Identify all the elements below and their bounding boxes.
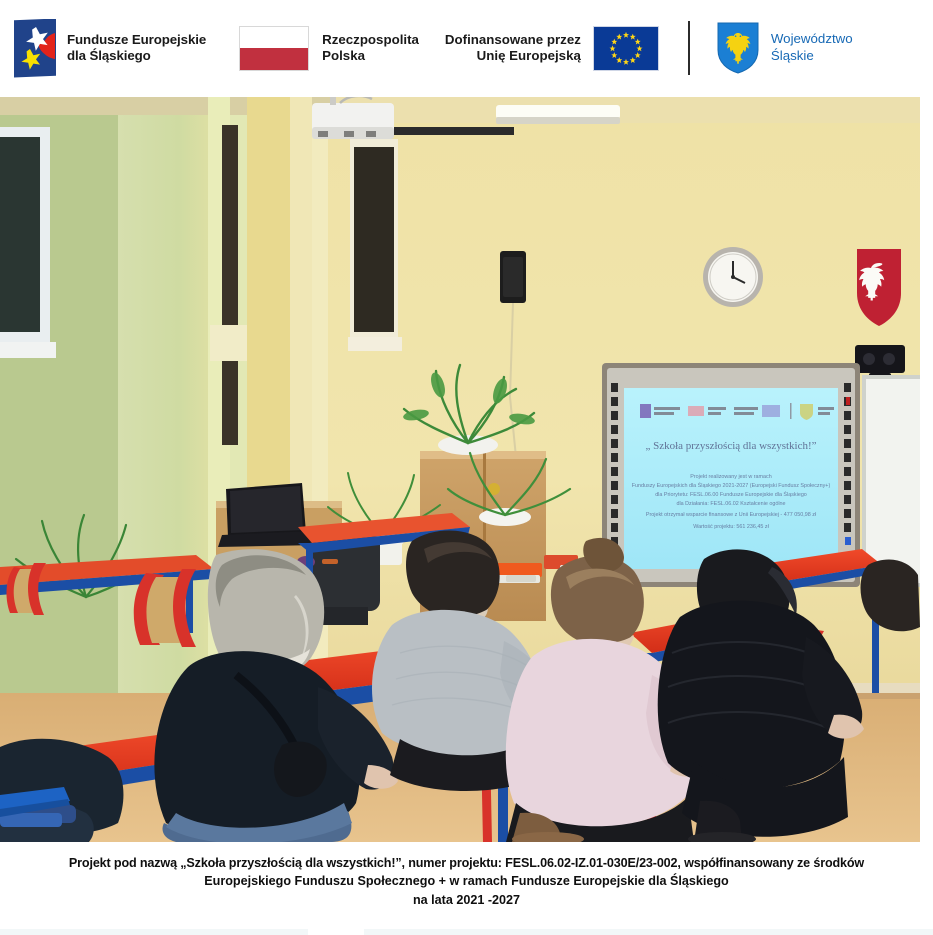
page-root: Fundusze Europejskie dla Śląskiego Rzecz… bbox=[0, 0, 933, 935]
eu-funds-flag-star-icon bbox=[14, 19, 56, 78]
project-caption: Projekt pod nazwą „Szkoła przyszłością d… bbox=[0, 842, 933, 909]
svg-text:Projekt otrzymał wsparcie fina: Projekt otrzymał wsparcie finansowe z Un… bbox=[646, 512, 817, 518]
logo-rzeczpospolita-polska-text: Rzeczpospolita Polska bbox=[322, 32, 419, 64]
logo-rzeczpospolita-polska: Rzeczpospolita Polska bbox=[239, 26, 419, 71]
fe-line-1: Fundusze Europejskie bbox=[67, 32, 206, 48]
pl-line-1: Rzeczpospolita bbox=[322, 32, 419, 48]
svg-text:„ Szkoła przyszłością dla wszy: „ Szkoła przyszłością dla wszystkich!” bbox=[645, 440, 816, 452]
page-bottom-edge bbox=[0, 929, 933, 935]
eu-line-2: Unię Europejską bbox=[445, 48, 581, 64]
silesian-voivodeship-coat-of-arms-icon bbox=[717, 22, 759, 74]
eu-funding-logo-bar: Fundusze Europejskie dla Śląskiego Rzecz… bbox=[0, 0, 933, 97]
logo-unia-europejska: Dofinansowane przez Unię Europejską bbox=[445, 26, 659, 71]
svg-text:Wartość projektu: 561 236,45 z: Wartość projektu: 561 236,45 zł bbox=[693, 524, 769, 530]
sl-line-1: Województwo bbox=[771, 31, 853, 48]
caption-line-1: Projekt pod nazwą „Szkoła przyszłością d… bbox=[14, 854, 919, 872]
pl-line-2: Polska bbox=[322, 48, 419, 64]
eu-line-1: Dofinansowane przez bbox=[445, 32, 581, 48]
svg-text:Funduszy Europejskich dla Śląs: Funduszy Europejskich dla Śląskiego 2021… bbox=[632, 481, 831, 489]
svg-text:Projekt realizowany jest w ram: Projekt realizowany jest w ramach bbox=[690, 474, 772, 480]
classroom-photo-image: „ Szkoła przyszłością dla wszystkich!” P… bbox=[0, 97, 920, 842]
classroom-photo: „ Szkoła przyszłością dla wszystkich!” P… bbox=[0, 97, 920, 842]
caption-line-2: Europejskiego Funduszu Społecznego + w r… bbox=[14, 872, 919, 890]
logo-unia-europejska-text: Dofinansowane przez Unię Europejską bbox=[445, 32, 581, 64]
logo-wojewodztwo-slaskie: Województwo Śląskie bbox=[717, 22, 853, 74]
svg-text:dla Priorytetu: FESL.06.00 Fun: dla Priorytetu: FESL.06.00 Fundusze Euro… bbox=[655, 490, 807, 498]
european-union-flag-icon bbox=[593, 26, 659, 71]
logo-bar-divider bbox=[688, 21, 690, 75]
logo-fundusze-europejskie: Fundusze Europejskie dla Śląskiego bbox=[14, 19, 206, 78]
sl-line-2: Śląskie bbox=[771, 48, 853, 65]
poland-flag-icon bbox=[239, 26, 309, 71]
caption-line-3: na lata 2021 -2027 bbox=[14, 891, 919, 909]
fe-line-2: dla Śląskiego bbox=[67, 48, 206, 64]
logo-wojewodztwo-slaskie-text: Województwo Śląskie bbox=[771, 31, 853, 64]
svg-text:dla Działania: FESL.06.02 Kszt: dla Działania: FESL.06.02 Kształcenie og… bbox=[676, 501, 785, 507]
logo-fundusze-europejskie-text: Fundusze Europejskie dla Śląskiego bbox=[67, 32, 206, 64]
